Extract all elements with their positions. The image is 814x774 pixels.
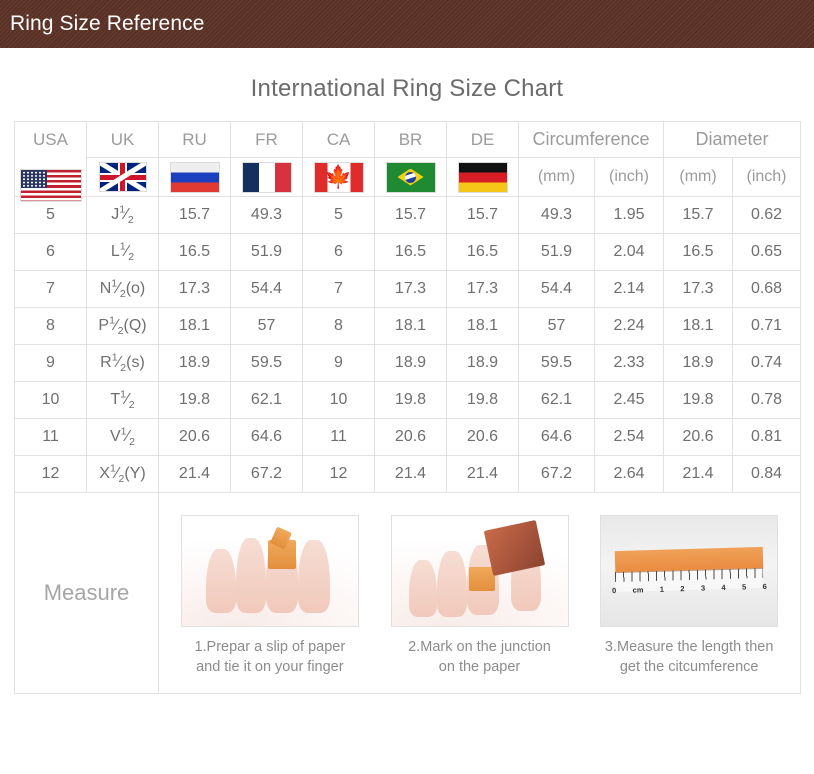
cell-fr: 62.1: [231, 382, 303, 419]
cell-diameter-inch: 0.74: [733, 345, 801, 382]
size-chart-container: USA UK RU FR CA BR DE Circumference Diam…: [0, 103, 814, 694]
cell-ru: 16.5: [159, 234, 231, 271]
cell-diameter-inch: 0.68: [733, 271, 801, 308]
flag-canada-icon: 🍁: [303, 158, 375, 197]
ruler-tick: 3: [701, 584, 705, 593]
cell-uk: T1⁄2: [87, 382, 159, 419]
cell-ru: 18.9: [159, 345, 231, 382]
table-row: 12X1⁄2(Y)21.467.21221.421.467.22.6421.40…: [15, 456, 801, 493]
cell-diameter-inch: 0.65: [733, 234, 801, 271]
cell-diameter-mm: 21.4: [664, 456, 733, 493]
cell-circumference-inch: 2.04: [595, 234, 664, 271]
cell-circumference-mm: 67.2: [519, 456, 595, 493]
unit-circumference-mm: (mm): [519, 158, 595, 197]
flag-france-icon: [231, 158, 303, 197]
cell-circumference-inch: 2.33: [595, 345, 664, 382]
cell-diameter-inch: 0.84: [733, 456, 801, 493]
table-body: 5J1⁄215.749.3515.715.749.31.9515.70.626L…: [15, 197, 801, 493]
cell-br: 18.9: [375, 345, 447, 382]
ruler-tick: 0: [612, 586, 616, 595]
cell-ru: 21.4: [159, 456, 231, 493]
header-diameter: Diameter: [664, 122, 801, 158]
cell-diameter-mm: 19.8: [664, 382, 733, 419]
cell-de: 17.3: [447, 271, 519, 308]
cell-diameter-mm: 15.7: [664, 197, 733, 234]
header-br: BR: [375, 122, 447, 158]
cell-usa: 8: [15, 308, 87, 345]
header-ca: CA: [303, 122, 375, 158]
page-banner: Ring Size Reference: [0, 0, 814, 48]
table-row: 8P1⁄2(Q)18.157818.118.1572.2418.10.71: [15, 308, 801, 345]
cell-diameter-mm: 18.9: [664, 345, 733, 382]
unit-diameter-inch: (inch): [733, 158, 801, 197]
cell-circumference-inch: 2.54: [595, 419, 664, 456]
measure-step-3: 0cm123456 3.Measure the length then get …: [589, 515, 790, 677]
cell-diameter-mm: 20.6: [664, 419, 733, 456]
table-header-labels: USA UK RU FR CA BR DE Circumference Diam…: [15, 122, 801, 158]
hand-with-paper-strip-photo: [181, 515, 359, 627]
cell-de: 15.7: [447, 197, 519, 234]
ruler-tick: 5: [742, 583, 746, 592]
cell-diameter-mm: 17.3: [664, 271, 733, 308]
cell-ca: 9: [303, 345, 375, 382]
cell-circumference-inch: 2.64: [595, 456, 664, 493]
cell-br: 20.6: [375, 419, 447, 456]
cell-de: 20.6: [447, 419, 519, 456]
cell-usa: 12: [15, 456, 87, 493]
header-uk: UK: [87, 122, 159, 158]
cell-br: 17.3: [375, 271, 447, 308]
cell-uk: X1⁄2(Y): [87, 456, 159, 493]
header-circumference: Circumference: [519, 122, 664, 158]
cell-circumference-mm: 57: [519, 308, 595, 345]
cell-br: 19.8: [375, 382, 447, 419]
measure-step-2-caption: 2.Mark on the junction on the paper: [379, 638, 580, 677]
measure-label: Measure: [15, 493, 159, 694]
cell-circumference-inch: 2.45: [595, 382, 664, 419]
cell-fr: 51.9: [231, 234, 303, 271]
cell-ca: 10: [303, 382, 375, 419]
cell-ru: 15.7: [159, 197, 231, 234]
cell-ca: 12: [303, 456, 375, 493]
cell-circumference-mm: 62.1: [519, 382, 595, 419]
cell-ru: 18.1: [159, 308, 231, 345]
cell-fr: 64.6: [231, 419, 303, 456]
cell-br: 18.1: [375, 308, 447, 345]
table-row: 6L1⁄216.551.9616.516.551.92.0416.50.65: [15, 234, 801, 271]
cell-ca: 5: [303, 197, 375, 234]
cell-ru: 20.6: [159, 419, 231, 456]
cell-usa: 9: [15, 345, 87, 382]
paper-strip-on-ruler-photo: 0cm123456: [600, 515, 778, 627]
cell-ru: 19.8: [159, 382, 231, 419]
cell-diameter-inch: 0.62: [733, 197, 801, 234]
measure-step-3-caption: 3.Measure the length then get the citcum…: [589, 638, 790, 677]
measure-step-2: 2.Mark on the junction on the paper: [379, 515, 580, 677]
page-title: International Ring Size Chart: [0, 48, 814, 103]
measure-step-1: 1.Prepar a slip of paper and tie it on y…: [169, 515, 370, 677]
cell-diameter-mm: 16.5: [664, 234, 733, 271]
cell-circumference-mm: 54.4: [519, 271, 595, 308]
cell-fr: 67.2: [231, 456, 303, 493]
unit-circumference-inch: (inch): [595, 158, 664, 197]
ruler-tick: cm: [632, 585, 643, 594]
cell-usa: 11: [15, 419, 87, 456]
banner-title: Ring Size Reference: [10, 12, 205, 36]
measure-row: Measure 1.Prep: [15, 493, 801, 694]
ruler-tick: 4: [721, 583, 725, 592]
cell-diameter-inch: 0.78: [733, 382, 801, 419]
cell-de: 16.5: [447, 234, 519, 271]
cell-fr: 59.5: [231, 345, 303, 382]
table-row: 11V1⁄220.664.61120.620.664.62.5420.60.81: [15, 419, 801, 456]
cell-de: 18.9: [447, 345, 519, 382]
cell-br: 21.4: [375, 456, 447, 493]
cell-fr: 49.3: [231, 197, 303, 234]
cell-circumference-mm: 51.9: [519, 234, 595, 271]
flag-uk-icon: [87, 158, 159, 197]
cell-circumference-mm: 64.6: [519, 419, 595, 456]
table-header-flags: 🍁 (mm) (inch) (mm) (inch): [15, 158, 801, 197]
flag-usa-icon: [20, 169, 82, 202]
header-fr: FR: [231, 122, 303, 158]
cell-ru: 17.3: [159, 271, 231, 308]
cell-circumference-inch: 2.14: [595, 271, 664, 308]
ruler-tick: 2: [680, 584, 684, 593]
cell-ca: 7: [303, 271, 375, 308]
cell-usa: 7: [15, 271, 87, 308]
cell-diameter-mm: 18.1: [664, 308, 733, 345]
cell-uk: R1⁄2(s): [87, 345, 159, 382]
cell-diameter-inch: 0.81: [733, 419, 801, 456]
cell-ca: 6: [303, 234, 375, 271]
cell-ca: 11: [303, 419, 375, 456]
header-usa-label: USA: [15, 130, 86, 150]
flag-brazil-icon: [375, 158, 447, 197]
ruler-tick: 6: [762, 582, 766, 591]
cell-ca: 8: [303, 308, 375, 345]
header-de: DE: [447, 122, 519, 158]
cell-uk: V1⁄2: [87, 419, 159, 456]
cell-br: 16.5: [375, 234, 447, 271]
cell-usa: 5: [15, 197, 87, 234]
hand-marking-paper-photo: [391, 515, 569, 627]
cell-fr: 57: [231, 308, 303, 345]
measure-steps: 1.Prepar a slip of paper and tie it on y…: [159, 493, 801, 694]
ring-size-table: USA UK RU FR CA BR DE Circumference Diam…: [14, 121, 801, 694]
cell-diameter-inch: 0.71: [733, 308, 801, 345]
cell-circumference-mm: 59.5: [519, 345, 595, 382]
cell-de: 21.4: [447, 456, 519, 493]
ruler-tick: 1: [659, 585, 663, 594]
cell-circumference-inch: 1.95: [595, 197, 664, 234]
measure-step-1-caption: 1.Prepar a slip of paper and tie it on y…: [169, 638, 370, 677]
cell-circumference-inch: 2.24: [595, 308, 664, 345]
table-row: 5J1⁄215.749.3515.715.749.31.9515.70.62: [15, 197, 801, 234]
flag-germany-icon: [447, 158, 519, 197]
header-usa: USA: [15, 122, 87, 197]
cell-uk: P1⁄2(Q): [87, 308, 159, 345]
table-row: 10T1⁄219.862.11019.819.862.12.4519.80.78: [15, 382, 801, 419]
table-row: 7N1⁄2(o)17.354.4717.317.354.42.1417.30.6…: [15, 271, 801, 308]
cell-br: 15.7: [375, 197, 447, 234]
cell-de: 19.8: [447, 382, 519, 419]
cell-uk: L1⁄2: [87, 234, 159, 271]
table-row: 9R1⁄2(s)18.959.5918.918.959.52.3318.90.7…: [15, 345, 801, 382]
flag-russia-icon: [159, 158, 231, 197]
cell-uk: J1⁄2: [87, 197, 159, 234]
cell-circumference-mm: 49.3: [519, 197, 595, 234]
header-ru: RU: [159, 122, 231, 158]
unit-diameter-mm: (mm): [664, 158, 733, 197]
cell-de: 18.1: [447, 308, 519, 345]
cell-uk: N1⁄2(o): [87, 271, 159, 308]
cell-usa: 10: [15, 382, 87, 419]
cell-fr: 54.4: [231, 271, 303, 308]
cell-usa: 6: [15, 234, 87, 271]
